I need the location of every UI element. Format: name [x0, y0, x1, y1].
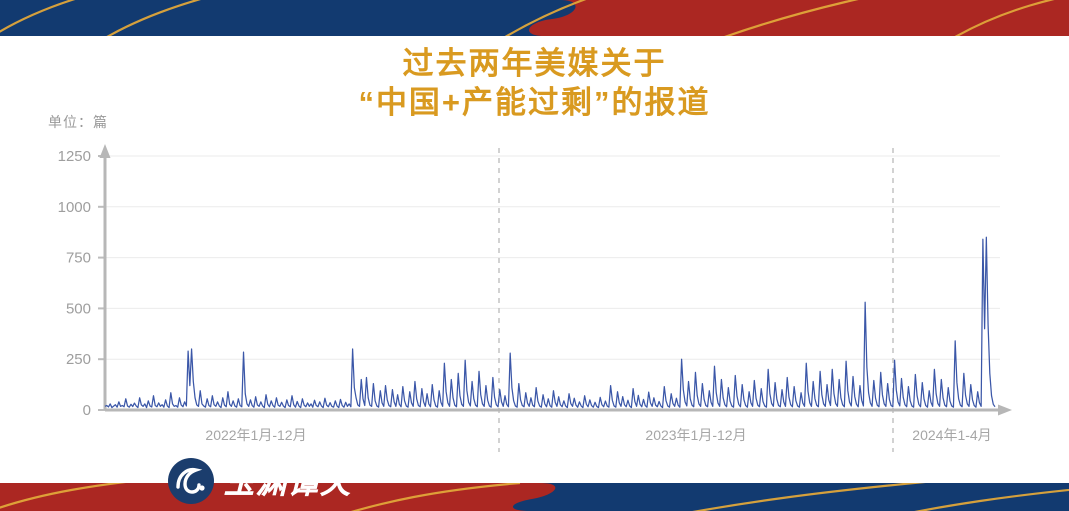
banner-navy-fill [0, 0, 576, 36]
chart-y-axis: 025050075010001250 [58, 148, 105, 419]
y-tick-label: 1000 [58, 199, 91, 216]
y-tick-label: 250 [66, 351, 91, 368]
brand-logo: 玉渊谭天 [166, 456, 366, 506]
y-tick-label: 1250 [58, 148, 91, 165]
x-tick-label: 2023年1月-12月 [645, 427, 746, 443]
y-tick-label: 750 [66, 250, 91, 267]
y-axis-arrowhead [100, 144, 111, 158]
chart-segment-separators [499, 148, 893, 452]
top-decorative-banner [0, 0, 1069, 36]
brand-logo-text: 玉渊谭天 [224, 467, 354, 500]
chart-axis-lines [100, 144, 1013, 416]
wave-circle-icon [168, 458, 214, 504]
x-tick-label: 2022年1月-12月 [205, 427, 306, 443]
line-chart: 025050075010001250 2022年1月-12月2023年1月-12… [0, 104, 1069, 454]
page-title-line-1: 过去两年美媒关于 [0, 44, 1069, 83]
y-tick-label: 0 [83, 402, 91, 419]
bottom-decorative-banner [0, 483, 1069, 511]
x-axis-arrowhead [998, 405, 1012, 416]
infographic-root: 过去两年美媒关于 “中国+产能过剩”的报道 单位：篇 0250500750100… [0, 0, 1069, 511]
y-tick-label: 500 [66, 300, 91, 317]
report-count-series [105, 237, 995, 407]
chart-x-axis-labels: 2022年1月-12月2023年1月-12月2024年1-4月 [205, 427, 991, 443]
chart-container: 单位：篇 025050075010001250 2022年1月-12月2023年… [0, 104, 1069, 454]
x-tick-label: 2024年1-4月 [912, 427, 991, 443]
